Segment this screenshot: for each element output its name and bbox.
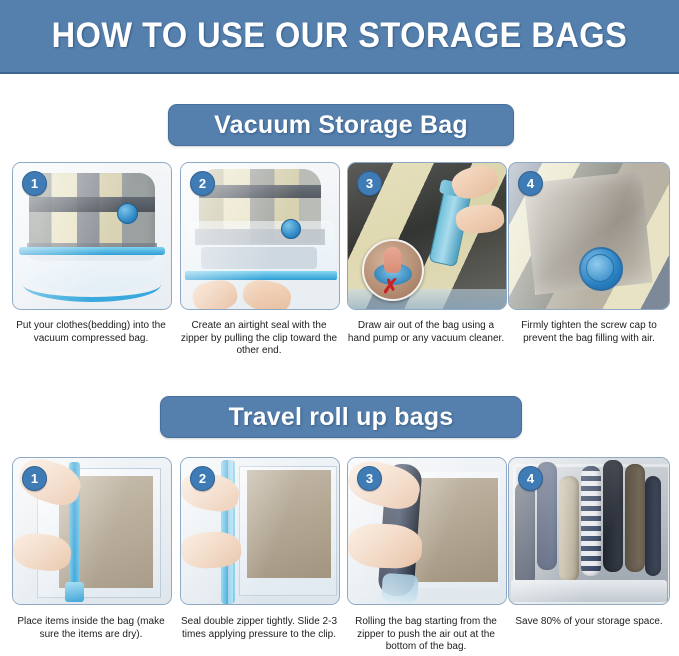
step-panel-travel-1: 1 <box>12 457 172 605</box>
step-caption-travel-4: Save 80% of your storage space. <box>508 616 670 629</box>
zipper-clip-icon <box>65 582 84 602</box>
hand-icon <box>241 278 293 310</box>
step-badge: 2 <box>190 466 215 491</box>
hand-icon <box>347 523 422 570</box>
step-caption-travel-3: Rolling the bag starting from the zipper… <box>347 616 505 654</box>
section-title-travel-roll-up-bags: Travel roll up bags <box>160 396 522 438</box>
x-mark-icon: ✗ <box>382 279 404 297</box>
section-title-vacuum-storage-bag: Vacuum Storage Bag <box>168 104 514 146</box>
step-panel-travel-2: 2 <box>180 457 340 605</box>
section-title-label: Travel roll up bags <box>229 403 454 432</box>
step-caption-travel-2: Seal double zipper tightly. Slide 2-3 ti… <box>180 616 338 641</box>
step-badge: 2 <box>190 171 215 196</box>
step-caption-vacuum-3: Draw air out of the bag using a hand pum… <box>347 320 505 345</box>
step-badge: 1 <box>22 466 47 491</box>
step-caption-vacuum-2: Create an airtight seal with the zipper … <box>180 320 338 358</box>
step-caption-travel-1: Place items inside the bag (make sure th… <box>12 616 170 641</box>
step-badge: 1 <box>22 171 47 196</box>
step-panel-travel-3: 3 <box>347 457 507 605</box>
step-panel-travel-4: 4 <box>508 457 670 605</box>
page-title: HOW TO USE OUR STORAGE BAGS <box>52 16 628 56</box>
step-panel-vacuum-3: ✗ 3 <box>347 162 507 310</box>
step-badge: 3 <box>357 466 382 491</box>
header-banner: HOW TO USE OUR STORAGE BAGS <box>0 0 679 74</box>
step-panel-vacuum-4: 4 <box>508 162 670 310</box>
hand-icon <box>190 277 239 310</box>
step-badge: 4 <box>518 171 543 196</box>
valve-detail-inset: ✗ <box>362 239 424 301</box>
valve-icon <box>281 219 301 239</box>
step-badge: 3 <box>357 171 382 196</box>
step-caption-vacuum-4: Firmly tighten the screw cap to prevent … <box>508 320 670 345</box>
section-title-label: Vacuum Storage Bag <box>214 111 468 140</box>
step-panel-vacuum-2: 2 <box>180 162 340 310</box>
valve-icon <box>117 203 138 224</box>
step-badge: 4 <box>518 466 543 491</box>
step-caption-vacuum-1: Put your clothes(bedding) into the vacuu… <box>12 320 170 345</box>
step-panel-vacuum-1: 1 <box>12 162 172 310</box>
